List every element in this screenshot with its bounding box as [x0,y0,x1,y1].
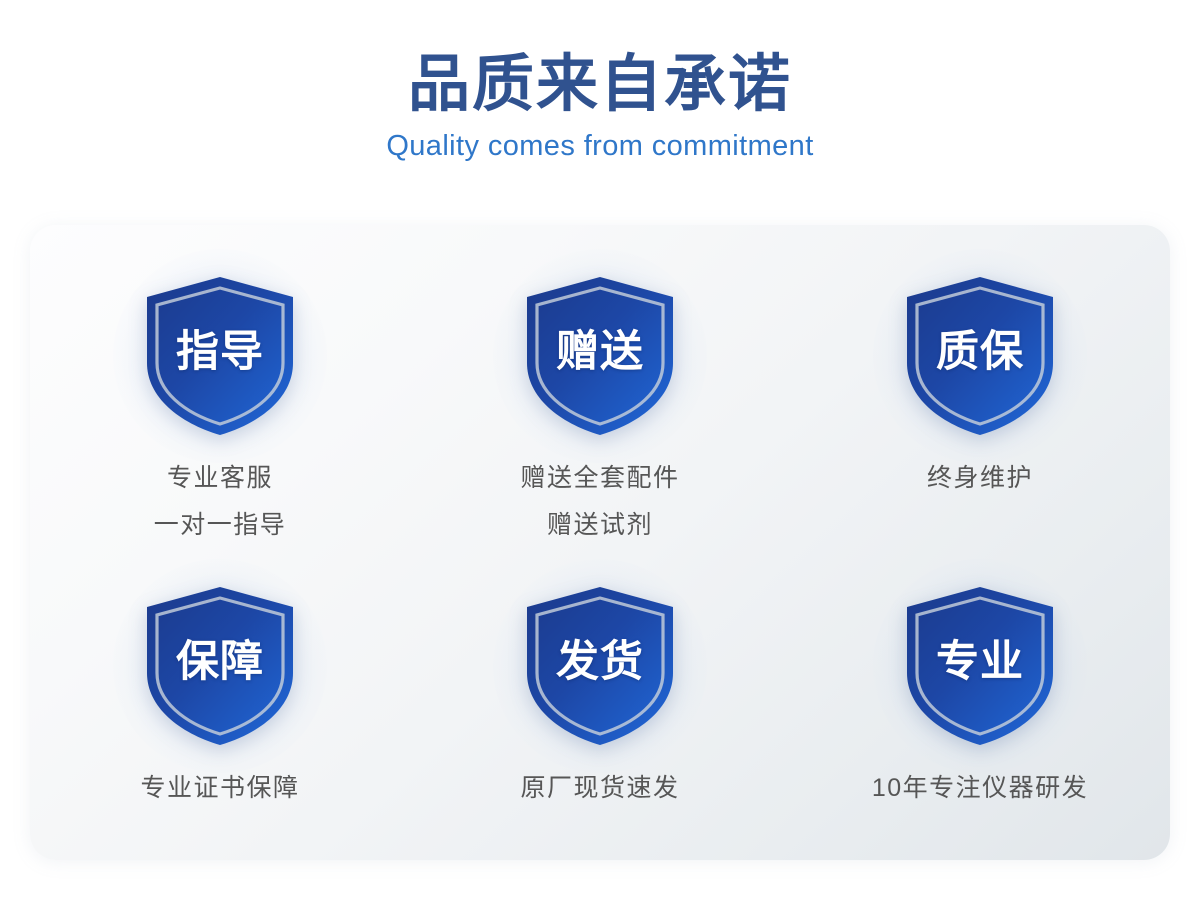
caption-line: 专业证书保障 [140,765,299,812]
shield-badge: 质保 [905,275,1055,437]
features-grid: 指导 专业客服 一对一指导 [30,225,1170,860]
page-subtitle: Quality comes from commitment [0,128,1200,164]
shield-badge: 指导 [145,275,295,437]
page-title: 品质来自承诺 [0,48,1200,122]
page-header: 品质来自承诺 Quality comes from commitment [0,48,1200,164]
shield-badge: 赠送 [525,275,675,437]
shield-badge: 专业 [905,585,1055,747]
feature-caption: 原厂现货速发 [520,765,679,812]
shield-badge: 保障 [145,585,295,747]
feature-caption: 专业证书保障 [140,765,299,812]
shield-icon [905,585,1055,747]
shield-icon [145,585,295,747]
feature-item-warranty: 质保 终身维护 [790,225,1170,555]
feature-item-certification: 保障 专业证书保障 [30,555,410,860]
caption-line: 10年专注仪器研发 [872,765,1088,812]
feature-item-shipping: 发货 原厂现货速发 [410,555,790,860]
caption-line: 一对一指导 [154,502,287,549]
features-card: 指导 专业客服 一对一指导 [30,225,1170,860]
caption-line: 原厂现货速发 [520,765,679,812]
feature-caption: 赠送全套配件 赠送试剂 [520,455,679,549]
feature-item-guidance: 指导 专业客服 一对一指导 [30,225,410,555]
shield-icon [145,275,295,437]
feature-caption: 10年专注仪器研发 [872,765,1088,812]
shield-icon [905,275,1055,437]
feature-item-expertise: 专业 10年专注仪器研发 [790,555,1170,860]
caption-line: 终身维护 [927,455,1033,502]
caption-line: 赠送试剂 [520,502,679,549]
promo-page: 品质来自承诺 Quality comes from commitment [0,0,1200,920]
feature-caption: 专业客服 一对一指导 [154,455,287,549]
shield-icon [525,585,675,747]
caption-line: 专业客服 [154,455,287,502]
shield-icon [525,275,675,437]
shield-badge: 发货 [525,585,675,747]
caption-line: 赠送全套配件 [520,455,679,502]
feature-caption: 终身维护 [927,455,1033,502]
feature-item-gift: 赠送 赠送全套配件 赠送试剂 [410,225,790,555]
